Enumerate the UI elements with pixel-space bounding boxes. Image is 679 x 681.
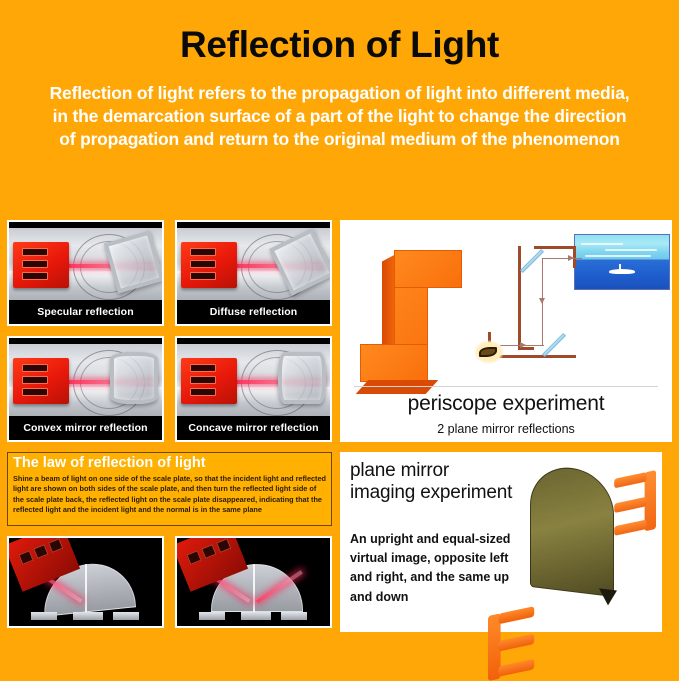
ray-arrow-icon — [520, 342, 526, 348]
periscope-title: periscope experiment — [346, 392, 666, 416]
e-bar — [614, 497, 646, 513]
periscope-subtitle: 2 plane mirror reflections — [346, 422, 666, 436]
page-title: Reflection of Light — [20, 26, 659, 65]
ray-arrow-icon — [568, 255, 574, 261]
plate-base-right — [113, 612, 139, 620]
photo-caption: Specular reflection — [9, 300, 162, 324]
plate-base-left — [199, 612, 225, 620]
normal-line — [85, 564, 87, 612]
dark-scene — [177, 538, 330, 626]
e-bar — [499, 606, 535, 624]
law-of-reflection-section: The law of reflection of light Shine a b… — [7, 452, 332, 632]
e-bar — [614, 472, 646, 488]
convex-mirror-icon — [110, 352, 158, 404]
header: Reflection of Light Reflection of light … — [0, 0, 679, 152]
photo-tile-flat-plate — [175, 536, 332, 628]
e-bar — [614, 520, 646, 536]
cloud-icon — [605, 249, 657, 251]
normal-line — [253, 564, 255, 612]
plate-base-right — [281, 612, 307, 620]
law-text-box: The law of reflection of light Shine a b… — [7, 452, 332, 526]
plate-base-left — [31, 612, 57, 620]
page-subtitle: Reflection of light refers to the propag… — [20, 82, 659, 152]
dark-scene — [9, 538, 162, 626]
convex-scene — [9, 344, 162, 418]
divider — [354, 386, 658, 387]
plate-base-center — [241, 612, 271, 620]
photo-caption: Concave mirror reflection — [177, 416, 330, 440]
laser-source-icon — [181, 358, 237, 404]
cloud-icon — [585, 255, 651, 257]
photo-caption: Convex mirror reflection — [9, 416, 162, 440]
plate-base-center — [73, 612, 103, 620]
eye-icon — [474, 340, 504, 364]
periscope-device-photo — [354, 240, 464, 392]
laser-source-icon — [181, 242, 237, 288]
device-bottom-arm — [360, 344, 428, 382]
device-top-arm — [394, 250, 462, 288]
plane-mirror-icon — [530, 463, 614, 597]
content-grid: Specular reflection Diffuse reflection — [7, 220, 672, 632]
reflection-photo-grid: Specular reflection Diffuse reflection — [7, 220, 332, 442]
ray-arrow-icon — [539, 298, 545, 304]
periscope-body: periscope experiment 2 plane mirror refl… — [346, 226, 666, 436]
e-bar — [499, 659, 535, 677]
concave-mirror-icon — [278, 352, 326, 404]
photo-tile-folded-plate — [7, 536, 164, 628]
poster-root: Reflection of Light Reflection of light … — [0, 0, 679, 679]
periscope-tube-right — [560, 268, 576, 358]
eye-pupil — [479, 347, 497, 357]
plane-mirror-illustration — [488, 458, 658, 626]
laser-source-icon — [13, 358, 69, 404]
photo-tile-diffuse: Diffuse reflection — [175, 220, 332, 326]
e-bar — [499, 633, 535, 651]
law-heading: The law of reflection of light — [13, 456, 326, 472]
photo-tile-convex: Convex mirror reflection — [7, 336, 164, 442]
laser-source-icon — [13, 242, 69, 288]
ray-incoming — [542, 258, 582, 259]
photo-tile-specular: Specular reflection — [7, 220, 164, 326]
photo-caption: Diffuse reflection — [177, 300, 330, 324]
periscope-panel: periscope experiment 2 plane mirror refl… — [340, 220, 672, 442]
plane-mirror-panel: plane mirror imaging experiment An uprig… — [340, 452, 662, 632]
specular-scene — [9, 228, 162, 302]
law-body-text: Shine a beam of light on one side of the… — [13, 474, 326, 515]
photo-tile-concave: Concave mirror reflection — [175, 336, 332, 442]
diffuse-scene — [177, 228, 330, 302]
cloud-icon — [581, 243, 623, 245]
concave-scene — [177, 344, 330, 418]
ship-icon — [609, 269, 635, 274]
periscope-ray-diagram — [472, 232, 670, 380]
sea-scene-illustration — [574, 234, 670, 290]
